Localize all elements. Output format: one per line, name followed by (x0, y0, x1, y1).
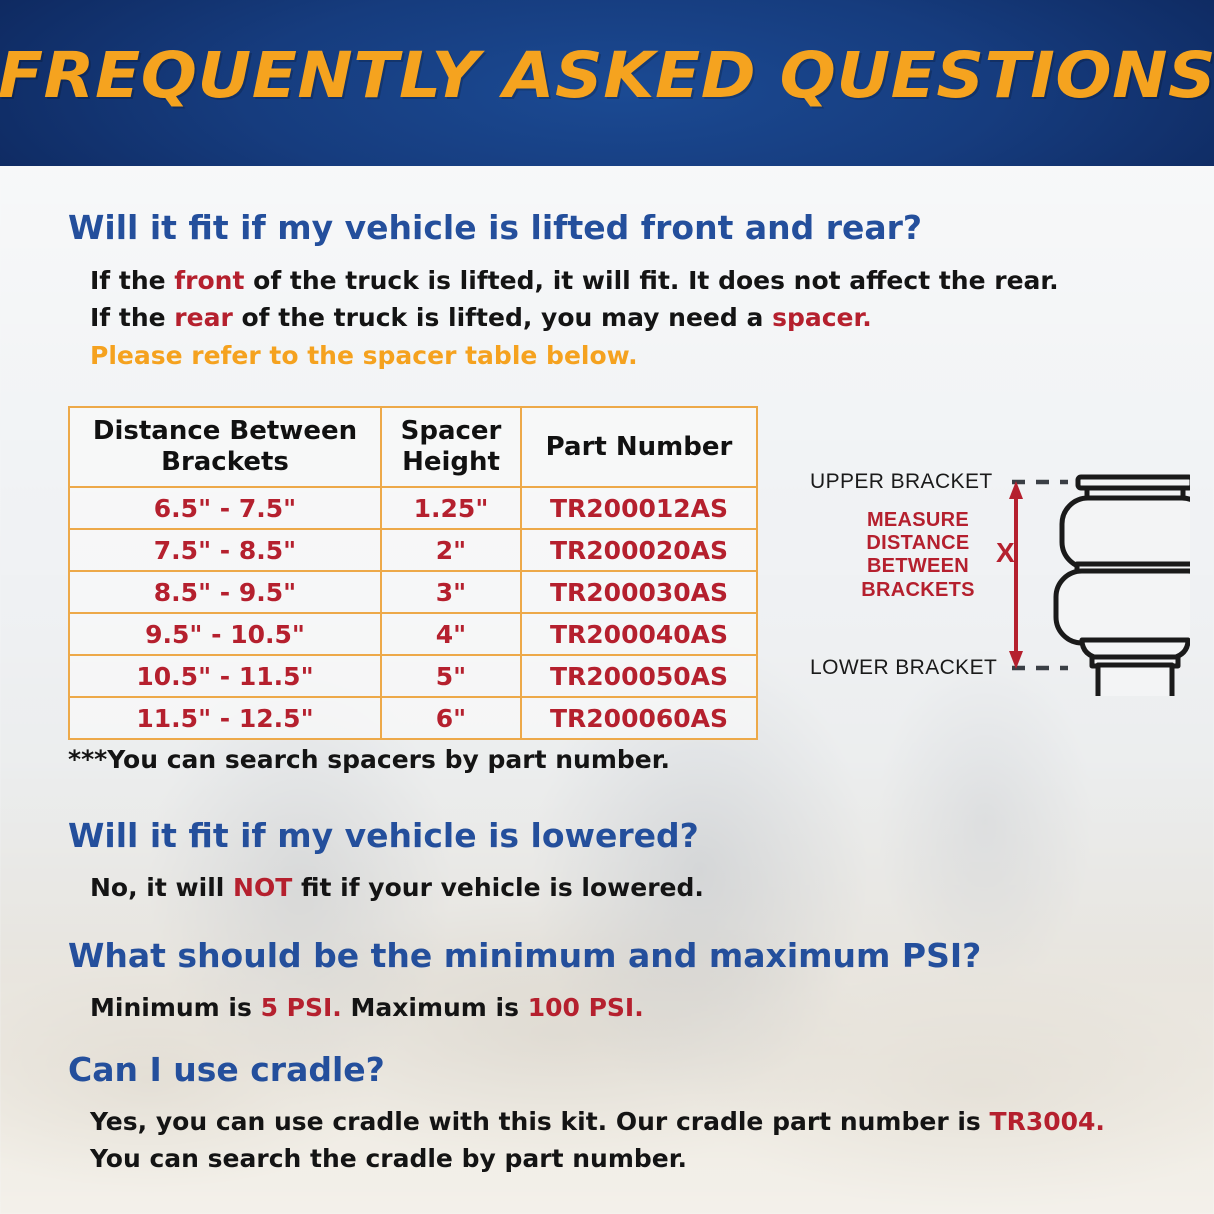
spacer-table: Distance Between Brackets Spacer Height … (68, 406, 758, 740)
table-row: 11.5" - 12.5" 6" TR200060AS (69, 697, 757, 739)
cell-spacer-height: 5" (381, 655, 521, 697)
answer-segment: No, it will (90, 873, 233, 902)
header-banner: FREQUENTLY ASKED QUESTIONS (0, 0, 1214, 166)
upper-bracket-label: UPPER BRACKET (810, 470, 993, 494)
answer-segment: fit if your vehicle is lowered. (292, 873, 704, 902)
faq-answer-lifted: If the front of the truck is lifted, it … (90, 262, 1059, 375)
answer-segment-highlight: 100 PSI. (528, 993, 644, 1022)
cell-part-number: TR200060AS (521, 697, 757, 739)
table-row: 9.5" - 10.5" 4" TR200040AS (69, 613, 757, 655)
answer-segment: Maximum is (342, 993, 528, 1022)
faq-item-psi: What should be the minimum and maximum P… (68, 938, 981, 1026)
answer-line: If the rear of the truck is lifted, you … (90, 299, 1059, 337)
answer-segment-highlight: NOT (233, 873, 292, 902)
faq-answer-cradle: Yes, you can use cradle with this kit. O… (90, 1103, 1105, 1178)
faq-answer-lowered: No, it will NOT fit if your vehicle is l… (90, 869, 704, 907)
faq-question-psi: What should be the minimum and maximum P… (68, 938, 981, 975)
cell-part-number: TR200030AS (521, 571, 757, 613)
air-spring-part (1056, 477, 1190, 696)
lower-bracket-label: LOWER BRACKET (810, 656, 997, 680)
answer-segment: If the (90, 266, 174, 295)
answer-segment-highlight: TR3004. (990, 1107, 1105, 1136)
faq-question-lowered: Will it fit if my vehicle is lowered? (68, 818, 704, 855)
table-row: 6.5" - 7.5" 1.25" TR200012AS (69, 487, 757, 529)
piston-body (1098, 665, 1172, 696)
answer-line: Minimum is 5 PSI. Maximum is 100 PSI. (90, 989, 981, 1027)
cell-part-number: TR200020AS (521, 529, 757, 571)
cell-spacer-height: 1.25" (381, 487, 521, 529)
answer-segment: Yes, you can use cradle with this kit. O… (90, 1107, 990, 1136)
answer-line: Yes, you can use cradle with this kit. O… (90, 1103, 1105, 1141)
content-area: Will it fit if my vehicle is lifted fron… (0, 166, 1214, 1214)
cell-distance: 6.5" - 7.5" (69, 487, 381, 529)
bracket-measurement-diagram: UPPER BRACKET LOWER BRACKET MEASURE DIST… (790, 456, 1190, 696)
faq-question-lifted: Will it fit if my vehicle is lifted fron… (68, 210, 1059, 247)
cell-distance: 11.5" - 12.5" (69, 697, 381, 739)
faq-item-lowered: Will it fit if my vehicle is lowered? No… (68, 818, 704, 906)
cell-part-number: TR200012AS (521, 487, 757, 529)
answer-segment-highlight: 5 PSI. (261, 993, 342, 1022)
upper-bellows-lobe (1062, 498, 1190, 568)
cell-distance: 9.5" - 10.5" (69, 613, 381, 655)
cell-part-number: TR200050AS (521, 655, 757, 697)
column-header-distance: Distance Between Brackets (69, 407, 381, 487)
answer-segment: Minimum is (90, 993, 261, 1022)
measure-arrow (1009, 481, 1023, 669)
answer-segment-highlight: rear (174, 303, 232, 332)
column-header-spacer-height: Spacer Height (381, 407, 521, 487)
table-header-row: Distance Between Brackets Spacer Height … (69, 407, 757, 487)
cell-distance: 10.5" - 11.5" (69, 655, 381, 697)
cell-spacer-height: 3" (381, 571, 521, 613)
answer-segment: of the truck is lifted, it will fit. It … (244, 266, 1058, 295)
lower-bellows-lobe (1056, 571, 1190, 643)
measure-distance-label: MEASURE DISTANCE BETWEEN BRACKETS (838, 509, 998, 602)
faq-item-lifted: Will it fit if my vehicle is lifted fron… (68, 210, 1059, 374)
cell-distance: 8.5" - 9.5" (69, 571, 381, 613)
table-row: 8.5" - 9.5" 3" TR200030AS (69, 571, 757, 613)
answer-line: If the front of the truck is lifted, it … (90, 262, 1059, 300)
faq-answer-psi: Minimum is 5 PSI. Maximum is 100 PSI. (90, 989, 981, 1027)
faq-infographic: FREQUENTLY ASKED QUESTIONS Will it fit i… (0, 0, 1214, 1214)
answer-segment-highlight: front (174, 266, 244, 295)
cell-spacer-height: 4" (381, 613, 521, 655)
answer-segment-highlight: spacer. (772, 303, 872, 332)
dimension-x-label: X (996, 537, 1015, 569)
cell-spacer-height: 6" (381, 697, 521, 739)
answer-line-note: Please refer to the spacer table below. (90, 337, 1059, 375)
faq-question-cradle: Can I use cradle? (68, 1052, 1105, 1089)
answer-segment: If the (90, 303, 174, 332)
table-row: 7.5" - 8.5" 2" TR200020AS (69, 529, 757, 571)
cell-part-number: TR200040AS (521, 613, 757, 655)
cell-distance: 7.5" - 8.5" (69, 529, 381, 571)
answer-segment: of the truck is lifted, you may need a (233, 303, 772, 332)
answer-line: You can search the cradle by part number… (90, 1140, 1105, 1178)
cell-spacer-height: 2" (381, 529, 521, 571)
page-title: FREQUENTLY ASKED QUESTIONS (0, 44, 1214, 107)
table-row: 10.5" - 11.5" 5" TR200050AS (69, 655, 757, 697)
faq-item-cradle: Can I use cradle? Yes, you can use cradl… (68, 1052, 1105, 1178)
column-header-part-number: Part Number (521, 407, 757, 487)
answer-line: No, it will NOT fit if your vehicle is l… (90, 869, 704, 907)
spacer-table-footnote: ***You can search spacers by part number… (68, 741, 670, 779)
